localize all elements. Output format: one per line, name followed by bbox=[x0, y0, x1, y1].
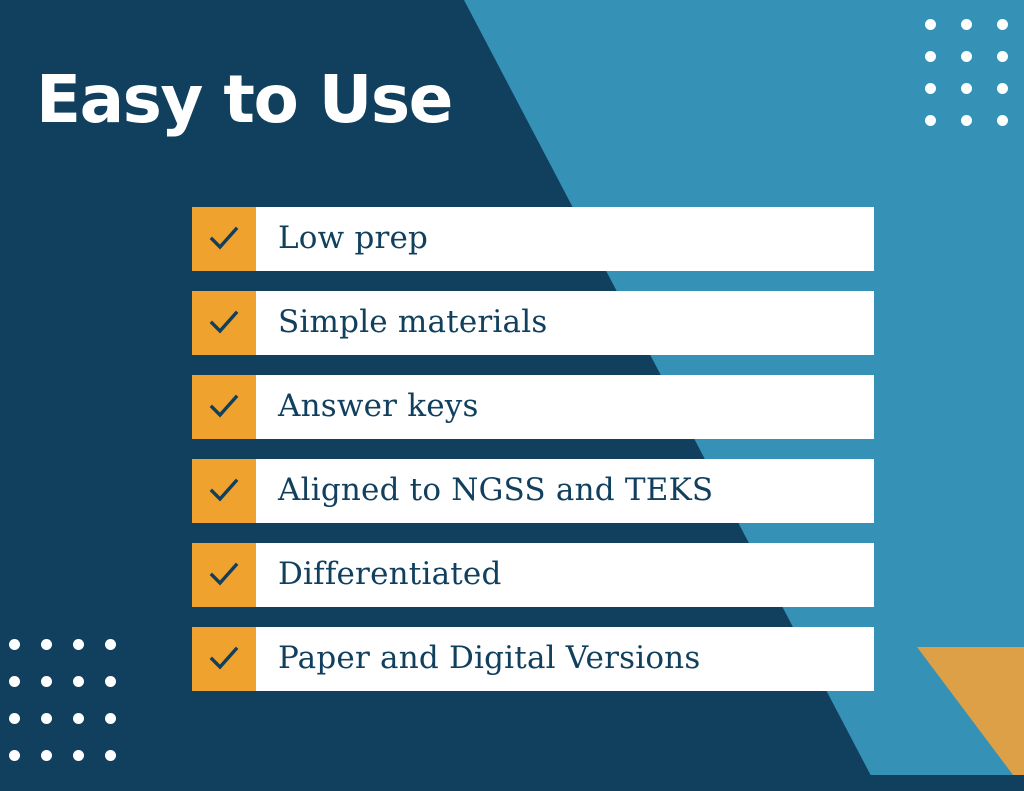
dot bbox=[73, 676, 84, 687]
list-item[interactable]: Aligned to NGSS and TEKS bbox=[192, 459, 874, 523]
page-title: Easy to Use bbox=[36, 61, 452, 139]
slide-canvas: Easy to Use Low prep Simple materials bbox=[0, 0, 1024, 791]
dot-row bbox=[9, 750, 137, 761]
dot bbox=[41, 750, 52, 761]
list-item-label: Answer keys bbox=[256, 375, 874, 439]
dot bbox=[925, 19, 936, 30]
dot bbox=[925, 83, 936, 94]
dot bbox=[105, 639, 116, 650]
dot-row bbox=[925, 83, 1024, 94]
dot bbox=[105, 750, 116, 761]
dot bbox=[9, 750, 20, 761]
dot bbox=[41, 713, 52, 724]
check-icon bbox=[192, 375, 256, 439]
list-item[interactable]: Differentiated bbox=[192, 543, 874, 607]
dot bbox=[9, 676, 20, 687]
dot-row bbox=[925, 19, 1024, 30]
dot-row bbox=[9, 713, 137, 724]
list-item[interactable]: Low prep bbox=[192, 207, 874, 271]
check-icon bbox=[192, 627, 256, 691]
dot-grid-bottom-left bbox=[9, 639, 137, 787]
dot bbox=[105, 676, 116, 687]
dot bbox=[9, 639, 20, 650]
list-item-label: Differentiated bbox=[256, 543, 874, 607]
dot bbox=[997, 51, 1008, 62]
check-icon bbox=[192, 207, 256, 271]
list-item-label: Simple materials bbox=[256, 291, 874, 355]
dot-row bbox=[9, 676, 137, 687]
dot bbox=[961, 19, 972, 30]
dot bbox=[73, 750, 84, 761]
dot bbox=[9, 713, 20, 724]
list-item-label: Paper and Digital Versions bbox=[256, 627, 874, 691]
dot bbox=[73, 713, 84, 724]
dot bbox=[105, 713, 116, 724]
dot bbox=[41, 639, 52, 650]
dot bbox=[961, 83, 972, 94]
dot bbox=[961, 115, 972, 126]
check-icon bbox=[192, 543, 256, 607]
dot-row bbox=[925, 115, 1024, 126]
list-item[interactable]: Answer keys bbox=[192, 375, 874, 439]
dot bbox=[997, 83, 1008, 94]
list-item[interactable]: Simple materials bbox=[192, 291, 874, 355]
list-item[interactable]: Paper and Digital Versions bbox=[192, 627, 874, 691]
dot-row bbox=[9, 639, 137, 650]
dot bbox=[961, 51, 972, 62]
list-item-label: Aligned to NGSS and TEKS bbox=[256, 459, 874, 523]
feature-list: Low prep Simple materials Answer keys bbox=[192, 207, 874, 691]
navy-bottom-band bbox=[0, 775, 1024, 791]
dot bbox=[997, 115, 1008, 126]
dot-row bbox=[925, 51, 1024, 62]
check-icon bbox=[192, 291, 256, 355]
dot bbox=[73, 639, 84, 650]
dot bbox=[41, 676, 52, 687]
dot bbox=[925, 115, 936, 126]
dot-grid-top-right bbox=[925, 19, 1024, 147]
list-item-label: Low prep bbox=[256, 207, 874, 271]
dot bbox=[925, 51, 936, 62]
check-icon bbox=[192, 459, 256, 523]
dot bbox=[997, 19, 1008, 30]
